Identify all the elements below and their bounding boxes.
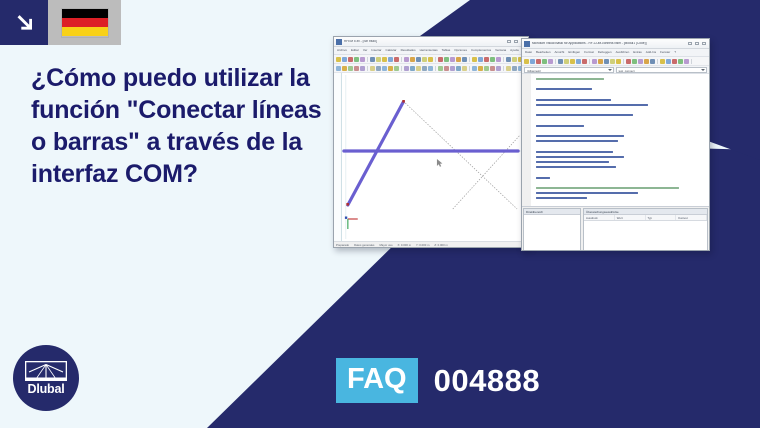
rfem-toolbar-primary-button-31[interactable]	[506, 57, 511, 62]
rfem-toolbar-secondary-button-25[interactable]	[472, 66, 477, 71]
rfem-toolbar-secondary-button-13[interactable]	[404, 66, 409, 71]
close-button[interactable]	[702, 42, 706, 45]
vba-code-line-10	[536, 125, 584, 127]
vba-code-line-8	[536, 114, 633, 116]
vba-toolbar-button-27[interactable]	[672, 59, 677, 64]
watch-column-header-2[interactable]: Wert	[615, 215, 646, 220]
vba-menu-item--[interactable]: ?	[674, 51, 676, 54]
rfem-window[interactable]: RFEM 5.xx - [Sin título] ArchivoEditarVe…	[333, 36, 529, 248]
rfem-toolbar-primary-separator	[401, 57, 402, 62]
rfem-toolbar-primary-button-3[interactable]	[348, 57, 353, 62]
mouse-pointer	[437, 159, 442, 167]
vba-bottom-panes: Direktbereich Überwachungsausdrücke Ausd…	[522, 206, 709, 251]
rfem-toolbar-secondary-button-19[interactable]	[438, 66, 443, 71]
vba-menubar[interactable]: DateiBearbeitenAnsichtEinfügenFormatDebu…	[522, 49, 709, 57]
rfem-toolbar-primary-button-10[interactable]	[388, 57, 393, 62]
vba-object-combo[interactable]: (Allgemein)	[524, 67, 614, 73]
vba-toolbar-button-25[interactable]	[660, 59, 665, 64]
vba-code-line-12	[536, 135, 624, 137]
arrow-down-right-icon	[13, 12, 35, 34]
faq-number: 004888	[434, 365, 540, 396]
rfem-toolbar-secondary-button-10[interactable]	[388, 66, 393, 71]
vba-toolbar-button-8[interactable]	[564, 59, 569, 64]
rfem-titlebar[interactable]: RFEM 5.xx - [Sin título]	[334, 37, 528, 47]
rfem-toolbar-primary-button-23[interactable]	[462, 57, 467, 62]
maximize-button[interactable]	[695, 42, 699, 45]
vba-code-line-23	[536, 192, 638, 194]
rfem-toolbar-primary-button-21[interactable]	[450, 57, 455, 62]
vba-toolbar-button-7[interactable]	[558, 59, 563, 64]
vba-toolbar-button-19[interactable]	[626, 59, 631, 64]
vba-code-selectors[interactable]: (Allgemein) test_connect	[522, 66, 709, 74]
vba-menu-item-einf-gen[interactable]: Einfügen	[568, 51, 580, 54]
german-flag-icon	[61, 8, 109, 38]
vba-toolbar-separator	[691, 59, 692, 64]
vba-toolbar-button-3[interactable]	[536, 59, 541, 64]
vba-toolbar-button-26[interactable]	[666, 59, 671, 64]
rfem-menu-item-complementos[interactable]: Complementos	[471, 49, 491, 52]
rfem-toolbar-secondary[interactable]	[334, 64, 528, 73]
rfem-toolbar-secondary-button-11[interactable]	[394, 66, 399, 71]
watch-pane[interactable]: Überwachungsausdrücke AusdruckWertTypKon…	[583, 208, 708, 251]
rfem-status-field-3: Mayor uso	[379, 244, 392, 247]
minimize-button[interactable]	[507, 40, 511, 43]
vba-code-line-20	[536, 177, 550, 179]
rfem-toolbar-primary-button-11[interactable]	[394, 57, 399, 62]
rfem-toolbar-secondary-button-4[interactable]	[354, 66, 359, 71]
flag-stripe-gold	[62, 27, 108, 36]
rfem-toolbar-primary-button-16[interactable]	[422, 57, 427, 62]
rfem-app-icon	[336, 39, 342, 45]
vba-menu-item-datei[interactable]: Datei	[525, 51, 532, 54]
immediate-pane[interactable]: Direktbereich	[523, 208, 581, 251]
vba-toolbar-button-28[interactable]	[678, 59, 683, 64]
rfem-toolbar-primary-button-13[interactable]	[404, 57, 409, 62]
faq-slide: ¿Cómo puedo utilizar la función "Conecta…	[0, 0, 760, 428]
rfem-toolbar-secondary-button-5[interactable]	[360, 66, 365, 71]
dlubal-truss-icon	[25, 361, 67, 381]
rfem-menu-item-ventana[interactable]: Ventana	[495, 49, 506, 52]
vba-toolbar-button-29[interactable]	[684, 59, 689, 64]
rfem-status-field-4: X: 0.000 m	[398, 244, 412, 247]
rfem-menu-item-resultados[interactable]: Resultados	[401, 49, 416, 52]
dashed-line-1	[405, 103, 517, 209]
faq-identifier: FAQ 004888	[336, 358, 540, 403]
flag-stripe-black	[62, 9, 108, 18]
node-marker-top	[402, 100, 405, 103]
maximize-button[interactable]	[514, 40, 518, 43]
watch-column-header-1[interactable]: Ausdruck	[584, 215, 615, 220]
rfem-toolbar-secondary-button-26[interactable]	[478, 66, 483, 71]
vba-toolbar-button-5[interactable]	[548, 59, 553, 64]
coordinate-axis-icon	[345, 217, 358, 230]
rfem-toolbar-primary-separator	[469, 57, 470, 62]
vba-toolbar-button-11[interactable]	[582, 59, 587, 64]
rfem-toolbar-secondary-button-9[interactable]	[382, 66, 387, 71]
rfem-toolbar-primary[interactable]	[334, 55, 528, 64]
vba-toolbar-button-1[interactable]	[524, 59, 529, 64]
rfem-toolbar-secondary-button-22[interactable]	[456, 66, 461, 71]
vba-toolbar-separator	[657, 59, 658, 64]
vba-procedure-combo[interactable]: test_connect	[616, 67, 707, 73]
vba-code-line-6	[536, 104, 648, 106]
vba-toolbar-separator	[589, 59, 590, 64]
vba-menu-item-ausf-hren[interactable]: Ausführen	[616, 51, 630, 54]
vba-menu-item-add-ins[interactable]: Add-Ins	[646, 51, 656, 54]
rfem-toolbar-secondary-button-15[interactable]	[416, 66, 421, 71]
logo-circle: Dlubal	[13, 345, 79, 411]
rfem-toolbar-primary-button-29[interactable]	[496, 57, 501, 62]
vba-toolbar-button-13[interactable]	[592, 59, 597, 64]
vba-menu-item-fenster[interactable]: Fenster	[660, 51, 670, 54]
rfem-toolbar-secondary-button-3[interactable]	[348, 66, 353, 71]
rfem-menu-item-editar[interactable]: Editar	[351, 49, 359, 52]
dashed-line-2	[453, 135, 520, 209]
rfem-toolbar-primary-button-22[interactable]	[456, 57, 461, 62]
vba-menu-item-ansicht[interactable]: Ansicht	[555, 51, 565, 54]
vba-toolbar-button-17[interactable]	[616, 59, 621, 64]
vba-code-line-22	[536, 187, 679, 189]
rfem-status-field-5: Y: 0.000 m	[416, 244, 429, 247]
faq-badge: FAQ	[336, 358, 418, 403]
rfem-toolbar-secondary-button-28[interactable]	[490, 66, 495, 71]
vba-code-line-5	[536, 99, 611, 101]
vba-toolbar-button-2[interactable]	[530, 59, 535, 64]
arrow-down-right-badge[interactable]	[0, 0, 48, 45]
vba-code-line-15	[536, 151, 613, 153]
vba-toolbar-button-14[interactable]	[598, 59, 603, 64]
rfem-toolbar-secondary-button-27[interactable]	[484, 66, 489, 71]
rfem-toolbar-secondary-separator	[503, 66, 504, 71]
vba-code-line-18	[536, 166, 616, 168]
minimize-button[interactable]	[688, 42, 692, 45]
rfem-toolbar-secondary-button-16[interactable]	[422, 66, 427, 71]
diagonal-member	[348, 102, 403, 205]
rfem-model-drawing	[334, 73, 528, 241]
vba-toolbar-button-16[interactable]	[610, 59, 615, 64]
rfem-toolbar-primary-button-20[interactable]	[444, 57, 449, 62]
vba-menu-item-extras[interactable]: Extras	[633, 51, 642, 54]
rfem-toolbar-secondary-separator	[469, 66, 470, 71]
rfem-toolbar-primary-button-27[interactable]	[484, 57, 489, 62]
rfem-toolbar-secondary-button-20[interactable]	[444, 66, 449, 71]
rfem-toolbar-secondary-button-21[interactable]	[450, 66, 455, 71]
rfem-toolbar-primary-button-25[interactable]	[472, 57, 477, 62]
rfem-menu-item-calcular[interactable]: Calcular	[386, 49, 397, 52]
vba-toolbar-button-4[interactable]	[542, 59, 547, 64]
vba-toolbar-button-21[interactable]	[638, 59, 643, 64]
rfem-toolbar-primary-button-26[interactable]	[478, 57, 483, 62]
rfem-toolbar-primary-button-2[interactable]	[342, 57, 347, 62]
vba-toolbar-button-20[interactable]	[632, 59, 637, 64]
vba-code-line-3	[536, 88, 592, 90]
rfem-model-canvas[interactable]	[334, 73, 528, 241]
vba-editor-window[interactable]: Microsoft Visual Basic for Applications …	[521, 38, 710, 251]
rfem-toolbar-secondary-button-8[interactable]	[376, 66, 381, 71]
rfem-menu-item-archivo[interactable]: Archivo	[337, 49, 347, 52]
rfem-canvas-left-rail	[334, 73, 342, 241]
vba-code-line-24	[536, 197, 587, 199]
rfem-toolbar-primary-separator	[367, 57, 368, 62]
rfem-menu-item-tablas[interactable]: Tablas	[442, 49, 451, 52]
rfem-toolbar-primary-button-8[interactable]	[376, 57, 381, 62]
rfem-toolbar-primary-button-28[interactable]	[490, 57, 495, 62]
rfem-toolbar-primary-button-32[interactable]	[512, 57, 517, 62]
rfem-toolbar-secondary-button-31[interactable]	[506, 66, 511, 71]
rfem-statusbar: PreparadoDatos generalesMayor usoX: 0.00…	[334, 241, 528, 248]
rfem-menu-item-ayuda[interactable]: Ayuda	[510, 49, 518, 52]
rfem-status-field-1: Preparado	[336, 244, 349, 247]
rfem-menu-item-ver[interactable]: Ver	[363, 49, 368, 52]
vba-toolbar-separator	[555, 59, 556, 64]
vba-code-line-16	[536, 156, 624, 158]
vba-toolbar-button-9[interactable]	[570, 59, 575, 64]
vba-code-line-13	[536, 140, 618, 142]
language-flag-badge[interactable]	[48, 0, 121, 45]
watch-column-header-3[interactable]: Typ	[646, 215, 677, 220]
rfem-menubar[interactable]: ArchivoEditarVerInsertarCalcularResultad…	[334, 47, 528, 55]
rfem-window-title: RFEM 5.xx - [Sin título]	[344, 40, 507, 43]
rfem-toolbar-secondary-button-14[interactable]	[410, 66, 415, 71]
rfem-toolbar-primary-button-5[interactable]	[360, 57, 365, 62]
rfem-status-field-6: Z: 0.000 m	[434, 244, 447, 247]
vba-code-editor[interactable]	[522, 74, 709, 206]
rfem-toolbar-primary-button-1[interactable]	[336, 57, 341, 62]
rfem-status-field-2: Datos generales	[354, 244, 374, 247]
vba-app-icon	[524, 41, 530, 47]
vba-toolbar-button-22[interactable]	[644, 59, 649, 64]
rfem-toolbar-secondary-button-7[interactable]	[370, 66, 375, 71]
vba-window-buttons[interactable]	[688, 42, 707, 45]
rfem-toolbar-primary-button-19[interactable]	[438, 57, 443, 62]
watch-pane-body[interactable]	[584, 221, 707, 251]
rfem-toolbar-secondary-button-2[interactable]	[342, 66, 347, 71]
vba-menu-item-debuggen[interactable]: Debuggen	[598, 51, 612, 54]
flag-stripe-red	[62, 18, 108, 27]
vba-code-line-1	[536, 78, 604, 80]
badge-row	[0, 0, 121, 45]
rfem-toolbar-primary-separator	[435, 57, 436, 62]
rfem-toolbar-primary-button-7[interactable]	[370, 57, 375, 62]
rfem-toolbar-primary-button-4[interactable]	[354, 57, 359, 62]
vba-toolbar-separator	[623, 59, 624, 64]
vba-titlebar[interactable]: Microsoft Visual Basic for Applications …	[522, 39, 709, 49]
vba-toolbar-button-10[interactable]	[576, 59, 581, 64]
rfem-toolbar-secondary-separator	[435, 66, 436, 71]
rfem-toolbar-secondary-button-32[interactable]	[512, 66, 517, 71]
immediate-pane-body[interactable]	[524, 215, 580, 251]
rfem-toolbar-primary-button-9[interactable]	[382, 57, 387, 62]
node-marker-bottom	[346, 203, 349, 206]
rfem-toolbar-secondary-button-29[interactable]	[496, 66, 501, 71]
logo-wordmark: Dlubal	[28, 383, 65, 396]
vba-code-line-17	[536, 161, 609, 163]
vba-toolbar-button-15[interactable]	[604, 59, 609, 64]
rfem-menu-item-opciones[interactable]: Opciones	[454, 49, 467, 52]
rfem-toolbar-primary-button-17[interactable]	[428, 57, 433, 62]
rfem-toolbar-secondary-button-1[interactable]	[336, 66, 341, 71]
dlubal-logo[interactable]: Dlubal	[13, 345, 79, 411]
vba-window-title: Microsoft Visual Basic for Applications …	[532, 42, 688, 45]
vba-menu-item-bearbeiten[interactable]: Bearbeiten	[536, 51, 551, 54]
rfem-toolbar-secondary-separator	[367, 66, 368, 71]
rfem-toolbar-secondary-button-23[interactable]	[462, 66, 467, 71]
rfem-toolbar-primary-button-15[interactable]	[416, 57, 421, 62]
vba-toolbar-button-23[interactable]	[650, 59, 655, 64]
watch-column-header-4[interactable]: Kontext	[676, 215, 707, 220]
vba-toolbar[interactable]	[522, 57, 709, 66]
rfem-menu-item-insertar[interactable]: Insertar	[371, 49, 381, 52]
rfem-toolbar-primary-separator	[503, 57, 504, 62]
vba-menu-item-format[interactable]: Format	[584, 51, 594, 54]
headline-text: ¿Cómo puedo utilizar la función "Conecta…	[31, 62, 331, 190]
rfem-toolbar-primary-button-14[interactable]	[410, 57, 415, 62]
rfem-menu-item-herramientas[interactable]: Herramientas	[420, 49, 438, 52]
rfem-toolbar-secondary-button-17[interactable]	[428, 66, 433, 71]
rfem-toolbar-secondary-separator	[401, 66, 402, 71]
